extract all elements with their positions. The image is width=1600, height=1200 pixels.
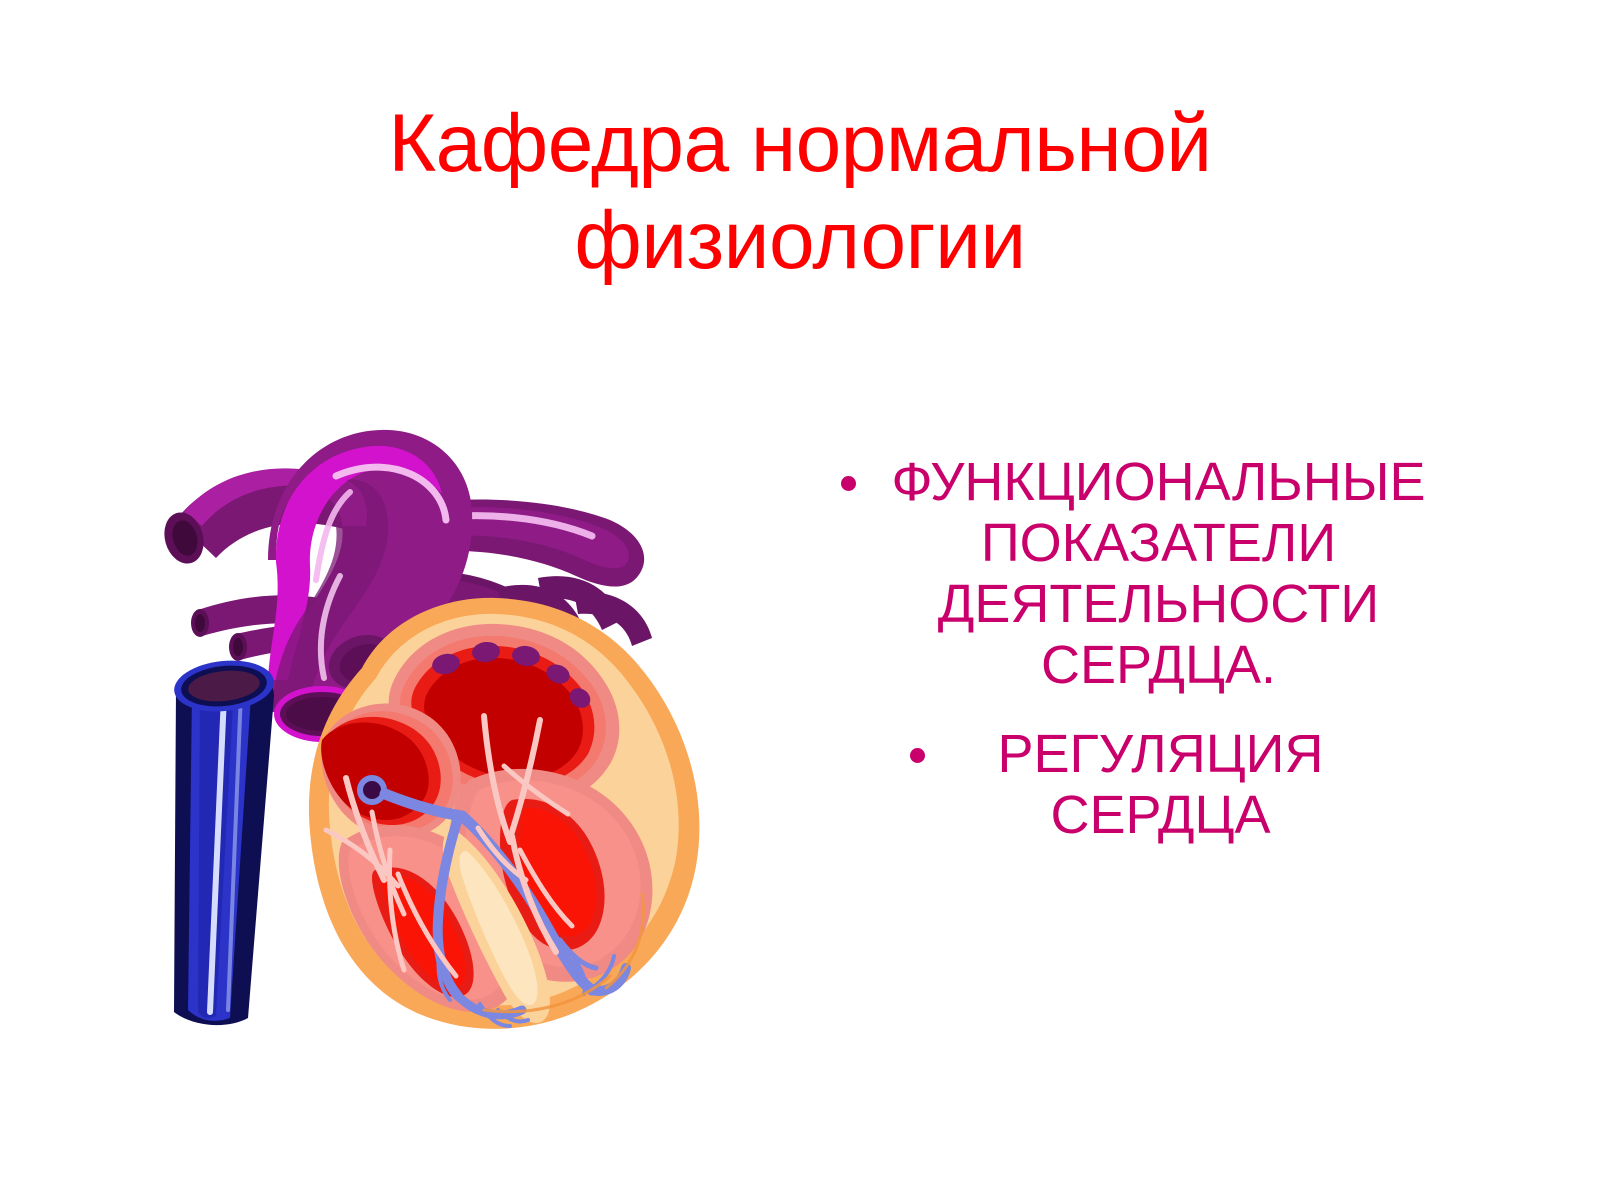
presentation-slide: Кафедра нормальной физиологии xyxy=(0,0,1600,1200)
bullet-item-label: ФУНКЦИОНАЛЬНЫЕ ПОКАЗАТЕЛИ ДЕЯТЕЛЬНОСТИ С… xyxy=(878,452,1440,696)
bullet-item-label: РЕГУЛЯЦИЯ СЕРДЦА xyxy=(951,724,1371,846)
list-item: ФУНКЦИОНАЛЬНЫЕ ПОКАЗАТЕЛИ ДЕЯТЕЛЬНОСТИ С… xyxy=(820,452,1460,696)
bullet-dot-icon xyxy=(910,748,925,763)
bullet-dot-icon xyxy=(841,476,856,491)
heart-cross-section-illustration xyxy=(140,380,760,1030)
superior-vena-cava-vessel xyxy=(172,656,277,1025)
heart-diagram-svg xyxy=(140,380,760,1030)
title-line-2: физиологии xyxy=(300,193,1300,290)
body-text-block: ФУНКЦИОНАЛЬНЫЕ ПОКАЗАТЕЛИ ДЕЯТЕЛЬНОСТИ С… xyxy=(820,452,1460,874)
title-line-1: Кафедра нормальной xyxy=(300,96,1300,193)
page-title: Кафедра нормальной физиологии xyxy=(300,96,1300,290)
list-item: РЕГУЛЯЦИЯ СЕРДЦА xyxy=(820,724,1460,846)
